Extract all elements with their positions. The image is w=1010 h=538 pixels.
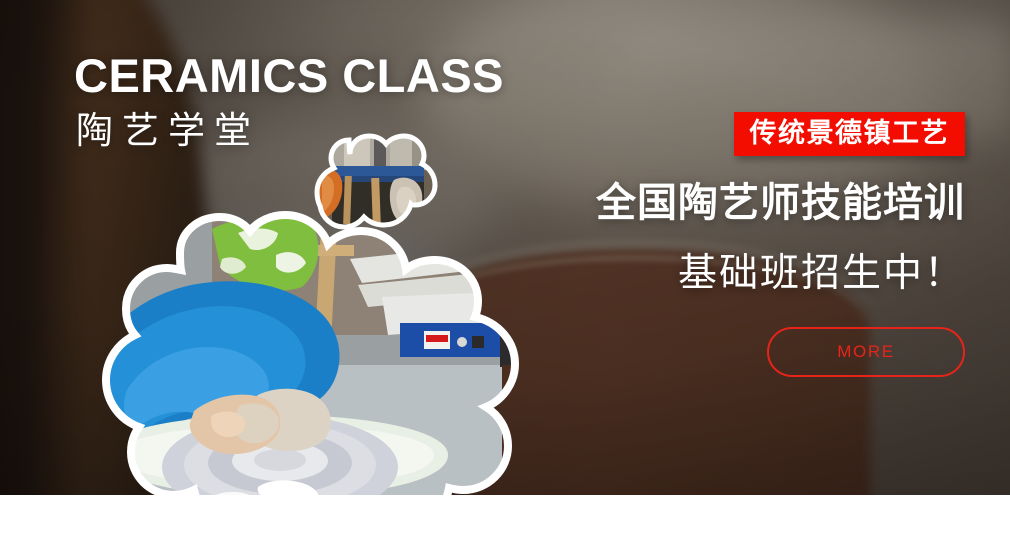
more-button-row: MORE bbox=[596, 327, 965, 377]
badge-row: 传统景德镇工艺 bbox=[596, 112, 965, 156]
page-title-english: CERAMICS CLASS bbox=[74, 52, 504, 101]
cloud-photo-frame-large bbox=[62, 215, 532, 535]
cloud-photo-frame-small bbox=[316, 132, 438, 232]
cloud-photo-small-svg bbox=[316, 132, 438, 232]
bottom-white-band bbox=[0, 495, 1010, 538]
promo-subline: 基础班招生中！ bbox=[596, 254, 965, 293]
more-button[interactable]: MORE bbox=[767, 327, 965, 377]
page-title-chinese: 陶艺学堂 bbox=[76, 111, 504, 152]
title-block: CERAMICS CLASS 陶艺学堂 bbox=[74, 52, 504, 152]
cloud-photo-large-svg bbox=[62, 215, 532, 535]
promo-copy-block: 传统景德镇工艺 全国陶艺师技能培训 基础班招生中！ MORE bbox=[596, 112, 965, 377]
ceramics-class-banner: CERAMICS CLASS 陶艺学堂 传统景德镇工艺 全国陶艺师技能培训 基础… bbox=[0, 0, 1010, 538]
status-badge: 传统景德镇工艺 bbox=[734, 112, 966, 156]
promo-headline: 全国陶艺师技能培训 bbox=[596, 183, 965, 223]
